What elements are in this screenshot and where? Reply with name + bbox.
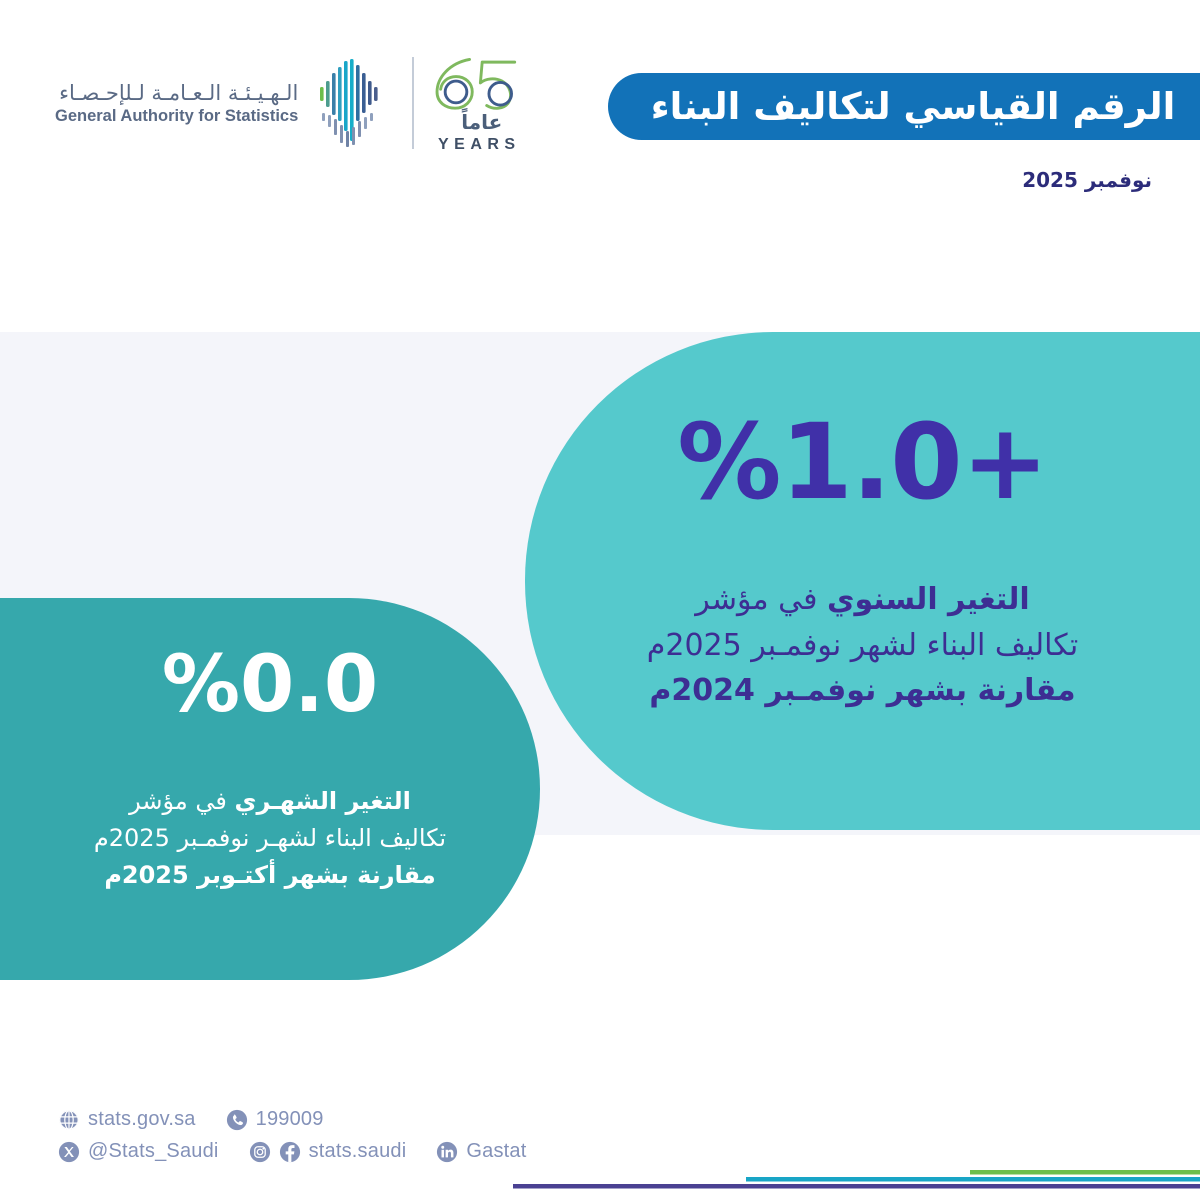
annual-change-description: التغير السنوي في مؤشر تكاليف البناء لشهر…	[585, 577, 1140, 714]
deco-line-cyan	[746, 1177, 1200, 1182]
website-contact[interactable]: stats.gov.sa	[58, 1108, 196, 1131]
authority-name-arabic: الـهـيـئـة الـعـامـة لـلإحـصـاء	[55, 80, 298, 106]
sixty-five-icon	[428, 54, 536, 110]
page-title: الرقم القياسي لتكاليف البناء	[651, 88, 1176, 125]
annual-desc-line2: تكاليف البناء لشهر نوفمـبر 2025م	[647, 628, 1078, 663]
deco-line-green	[970, 1170, 1200, 1175]
gastat-bars-icon	[312, 53, 390, 153]
annual-desc-highlight: التغير السنوي	[827, 582, 1030, 617]
contact-row-primary: stats.gov.sa 199009	[58, 1108, 527, 1131]
anniversary-logo: عاماً YEARS	[436, 54, 528, 153]
website-label: stats.gov.sa	[88, 1108, 196, 1131]
monthly-change-description: التغير الشهـري في مؤشر تكاليف البناء لشه…	[48, 783, 492, 895]
header: عاماً YEARS	[0, 0, 1200, 332]
monthly-change-value: %0.0	[0, 646, 540, 724]
deco-line-purple	[513, 1184, 1200, 1189]
phone-contact[interactable]: 199009	[226, 1108, 324, 1131]
annual-change-value: %1.0+	[525, 410, 1200, 514]
monthly-desc-line3: مقارنة بشهر أكتـوبر 2025م	[104, 861, 435, 889]
annual-change-panel: %1.0+ التغير السنوي في مؤشر تكاليف البنا…	[525, 332, 1200, 830]
report-date: نوفمبر 2025	[1022, 168, 1152, 192]
monthly-change-panel: %0.0 التغير الشهـري في مؤشر تكاليف البنا…	[0, 598, 540, 980]
title-banner: الرقم القياسي لتكاليف البناء	[608, 73, 1200, 140]
decorative-lines	[0, 1144, 1200, 1200]
globe-icon	[58, 1109, 80, 1131]
anniversary-arabic-label: عاماً	[461, 112, 502, 132]
monthly-desc-highlight: التغير الشهـري	[235, 787, 411, 815]
monthly-desc-line1-rest: في مؤشر	[129, 787, 234, 815]
logo-lockup: عاماً YEARS	[55, 48, 528, 158]
monthly-desc-line2: تكاليف البناء لشهـر نوفمـبر 2025م	[94, 824, 446, 852]
authority-name-english: General Authority for Statistics	[55, 106, 298, 127]
anniversary-english-label: YEARS	[438, 137, 526, 153]
phone-label: 199009	[256, 1108, 324, 1131]
phone-icon	[226, 1109, 248, 1131]
authority-name: الـهـيـئـة الـعـامـة لـلإحـصـاء General …	[55, 80, 298, 127]
annual-desc-line3: مقارنة بشهر نوفمـبر 2024م	[649, 673, 1075, 708]
annual-desc-line1-rest: في مؤشر	[695, 582, 827, 617]
logo-divider	[412, 57, 414, 149]
